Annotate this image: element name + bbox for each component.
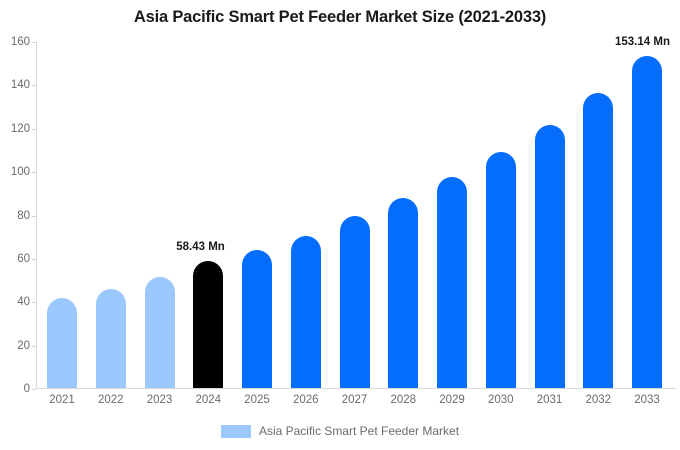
chart-title: Asia Pacific Smart Pet Feeder Market Siz…	[0, 8, 680, 27]
bar-2032[interactable]	[583, 93, 613, 388]
bar-2028[interactable]	[388, 198, 418, 388]
y-axis-tick-mark	[32, 346, 36, 347]
y-axis-tick-mark	[32, 42, 36, 43]
bar-2030[interactable]	[486, 152, 516, 388]
chart-legend: Asia Pacific Smart Pet Feeder Market	[0, 424, 680, 438]
y-axis-tick-mark	[32, 129, 36, 130]
y-axis-tick-mark	[32, 85, 36, 86]
y-axis-line	[36, 42, 37, 389]
y-axis-tick-label: 60	[0, 253, 30, 265]
legend-swatch	[221, 425, 251, 438]
bar-2025[interactable]	[242, 250, 272, 388]
y-axis-tick-label: 20	[0, 340, 30, 352]
bar-2023[interactable]	[145, 277, 175, 388]
bar-2024[interactable]	[193, 261, 223, 388]
legend-label: Asia Pacific Smart Pet Feeder Market	[259, 424, 459, 438]
y-axis-tick-label: 140	[0, 79, 30, 91]
bar-2026[interactable]	[291, 236, 321, 388]
y-axis-tick-mark	[32, 389, 36, 390]
y-axis-tick-label: 0	[0, 383, 30, 395]
x-axis-tick-label: 2033	[617, 394, 677, 406]
bar-2022[interactable]	[96, 289, 126, 388]
y-axis-tick-label: 100	[0, 166, 30, 178]
x-axis-line	[36, 388, 676, 389]
y-axis-tick-label: 80	[0, 210, 30, 222]
bar-2021[interactable]	[47, 298, 77, 388]
value-label-2024: 58.43 Mn	[176, 241, 225, 253]
y-axis-tick-label: 40	[0, 296, 30, 308]
y-axis-tick-mark	[32, 302, 36, 303]
bar-2031[interactable]	[535, 125, 565, 389]
bar-2033[interactable]	[632, 56, 662, 388]
value-label-2033: 153.14 Mn	[615, 36, 670, 48]
y-axis-tick-mark	[32, 216, 36, 217]
y-axis-tick-label: 120	[0, 123, 30, 135]
bar-2029[interactable]	[437, 177, 467, 388]
y-axis-tick-mark	[32, 172, 36, 173]
bar-chart: Asia Pacific Smart Pet Feeder Market Siz…	[0, 0, 680, 450]
y-axis-tick-mark	[32, 259, 36, 260]
y-axis-tick-label: 160	[0, 36, 30, 48]
bar-2027[interactable]	[340, 216, 370, 388]
plot-area: 020406080100120140160 202120222023202420…	[36, 42, 676, 389]
